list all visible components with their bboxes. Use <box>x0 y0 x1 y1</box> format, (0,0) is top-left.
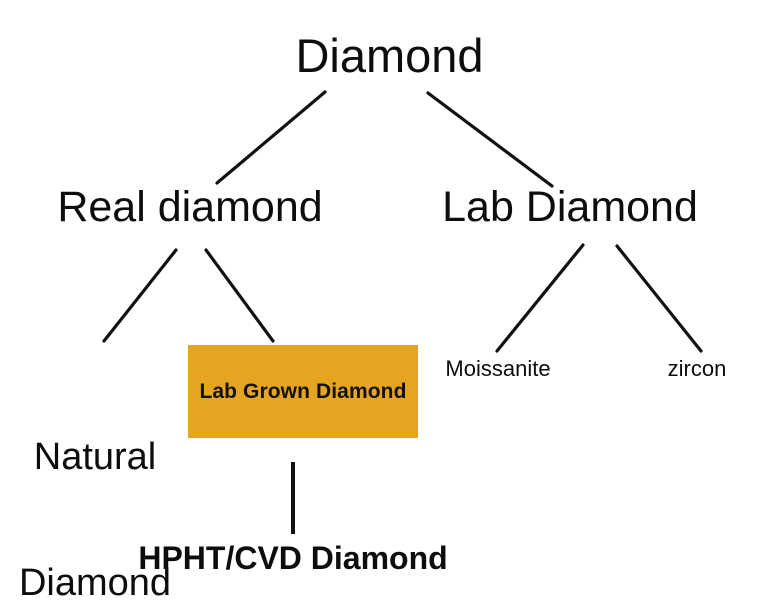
edge-real-diamond-to-lab-grown-diamond <box>206 250 273 341</box>
node-diamond-root: Diamond <box>0 32 779 79</box>
node-lab-grown-diamond-box: Lab Grown Diamond <box>188 345 418 438</box>
node-hpht-cvd-diamond: HPHT/CVD Diamond <box>103 542 483 574</box>
edge-real-diamond-to-natural-diamond <box>104 250 176 341</box>
node-zircon: zircon <box>627 358 767 380</box>
node-natural-diamond-line-1: Natural <box>0 436 190 478</box>
node-lab-diamond: Lab Diamond <box>410 186 730 229</box>
edge-lab-diamond-to-moissanite <box>497 245 583 351</box>
edge-root-to-real-diamond <box>217 92 325 183</box>
edge-root-to-lab-diamond <box>428 93 552 186</box>
diagram-canvas: Diamond Real diamond Lab Diamond Natural… <box>0 0 779 603</box>
edge-lab-diamond-to-zircon <box>617 246 701 351</box>
node-real-diamond: Real diamond <box>20 186 360 229</box>
node-lab-grown-diamond-label: Lab Grown Diamond <box>199 380 406 404</box>
node-moissanite: Moissanite <box>418 358 578 380</box>
